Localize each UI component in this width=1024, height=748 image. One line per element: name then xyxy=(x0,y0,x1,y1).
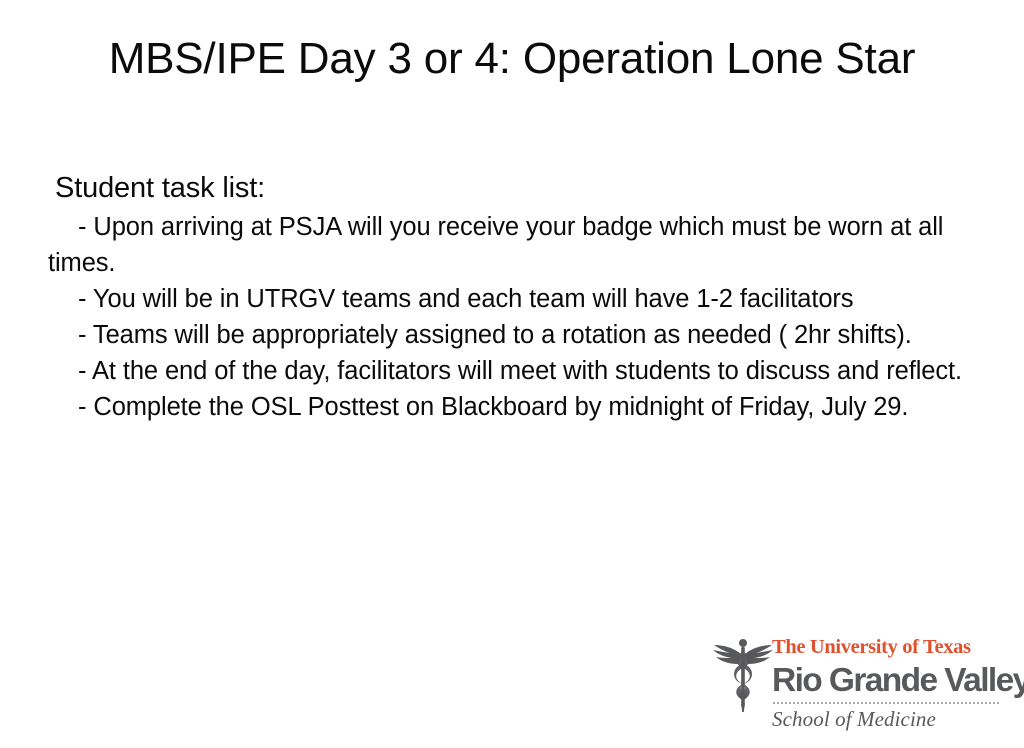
task-list-item: - At the end of the day, facilitators wi… xyxy=(48,353,988,389)
task-list-item: - You will be in UTRGV teams and each te… xyxy=(48,281,988,317)
page-title: MBS/IPE Day 3 or 4: Operation Lone Star xyxy=(0,34,1024,83)
slide: MBS/IPE Day 3 or 4: Operation Lone Star … xyxy=(0,0,1024,748)
logo-school-line: School of Medicine xyxy=(772,706,1008,732)
logo-wordmark: The University of Texas Rio Grande Valle… xyxy=(772,636,1008,732)
caduceus-icon xyxy=(712,638,774,712)
task-list-item: - Upon arriving at PSJA will you receive… xyxy=(48,209,988,281)
utrgv-school-of-medicine-logo: The University of Texas Rio Grande Valle… xyxy=(712,636,1008,740)
logo-divider xyxy=(772,702,1001,704)
task-list-item: - Teams will be appropriately assigned t… xyxy=(48,317,988,353)
task-list-item: - Complete the OSL Posttest on Blackboar… xyxy=(48,389,988,425)
logo-rgv-text: Rio Grande Valley xyxy=(772,662,1024,699)
slide-body: Student task list: - Upon arriving at PS… xyxy=(48,168,988,425)
logo-university-line: The University of Texas xyxy=(772,636,1008,659)
logo-rgv-line: Rio Grande Valley™ xyxy=(772,659,1008,698)
task-list-heading: Student task list: xyxy=(55,168,988,209)
task-list: - Upon arriving at PSJA will you receive… xyxy=(48,209,988,425)
